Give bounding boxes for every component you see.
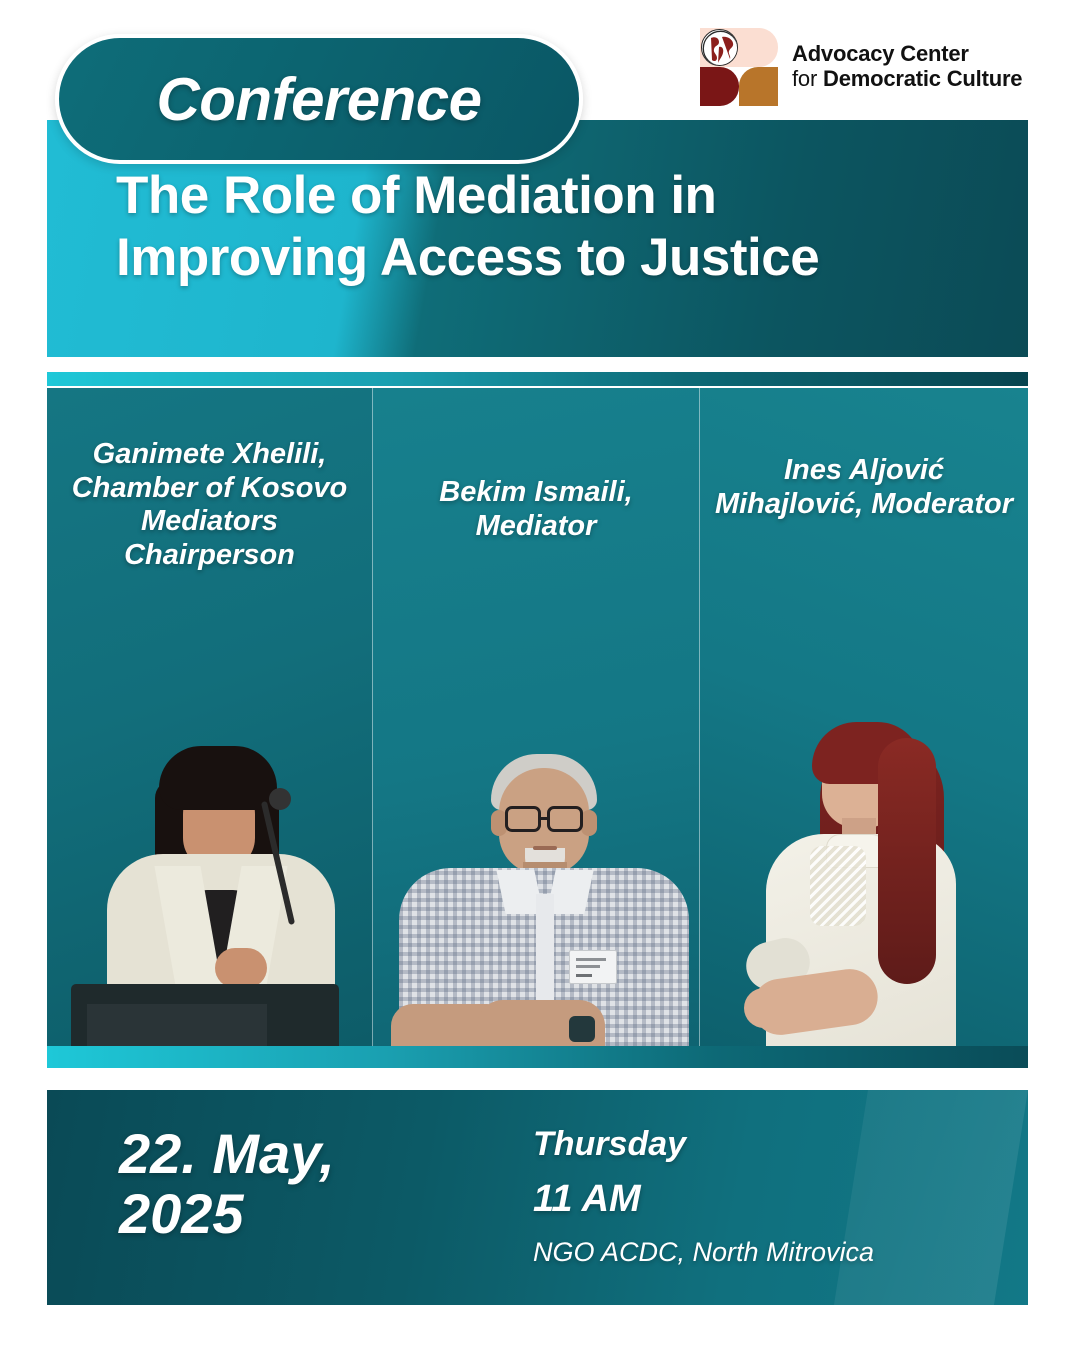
logo-line-2: for Democratic Culture [792, 67, 1022, 92]
speaker-panel-1: Ganimete Xhelili, Chamber of Kosovo Medi… [47, 388, 372, 1046]
speakers-section: Ganimete Xhelili, Chamber of Kosovo Medi… [47, 388, 1028, 1046]
speaker-name-3: Ines Aljović Mihajlović, Moderator [700, 454, 1028, 521]
event-weekday: Thursday [533, 1124, 874, 1165]
logo-square-top-right [739, 28, 778, 67]
logo-square-bottom-left [700, 67, 739, 106]
organization-logo: Advocacy Center for Democratic Culture [700, 28, 1022, 106]
logo-line-1: Advocacy Center [792, 42, 1022, 67]
logo-line-2-bold: Democratic Culture [823, 66, 1022, 91]
accent-bar-bottom [47, 1046, 1028, 1068]
speaker-name-1: Ganimete Xhelili, Chamber of Kosovo Medi… [47, 438, 372, 573]
page-title: The Role of Mediation in Improving Acces… [116, 165, 1016, 289]
speaker-name-2: Bekim Ismaili, Mediator [373, 476, 699, 543]
speaker-photo-ines-aljovic-mihajlovic [700, 646, 1028, 1046]
event-details-footer: 22. May, 2025 Thursday 11 AM NGO ACDC, N… [47, 1090, 1028, 1305]
accent-bar-top [47, 372, 1028, 386]
logo-line-2-prefix: for [792, 66, 823, 91]
globe-icon [701, 29, 738, 66]
event-time: 11 AM [533, 1177, 874, 1223]
logo-square-bottom-right [739, 67, 778, 106]
event-venue: NGO ACDC, North Mitrovica [533, 1236, 874, 1270]
conference-badge-label: Conference [156, 65, 481, 134]
logo-wordmark: Advocacy Center for Democratic Culture [792, 42, 1022, 91]
title-line-1: The Role of Mediation in [116, 165, 1016, 227]
event-date: 22. May, 2025 [119, 1124, 449, 1245]
speaker-panel-3: Ines Aljović Mihajlović, Moderator [700, 388, 1028, 1046]
conference-poster: Advocacy Center for Democratic Culture T… [0, 0, 1080, 1350]
speaker-panel-2: Bekim Ismaili, Mediator [372, 388, 700, 1046]
speaker-photo-ganimete-xhelili [47, 646, 372, 1046]
acdc-logo-mark [700, 28, 778, 106]
title-line-2: Improving Access to Justice [116, 227, 1016, 289]
speaker-photo-bekim-ismaili [373, 646, 699, 1046]
event-time-details: Thursday 11 AM NGO ACDC, North Mitrovica [533, 1124, 874, 1270]
conference-badge: Conference [55, 34, 583, 164]
